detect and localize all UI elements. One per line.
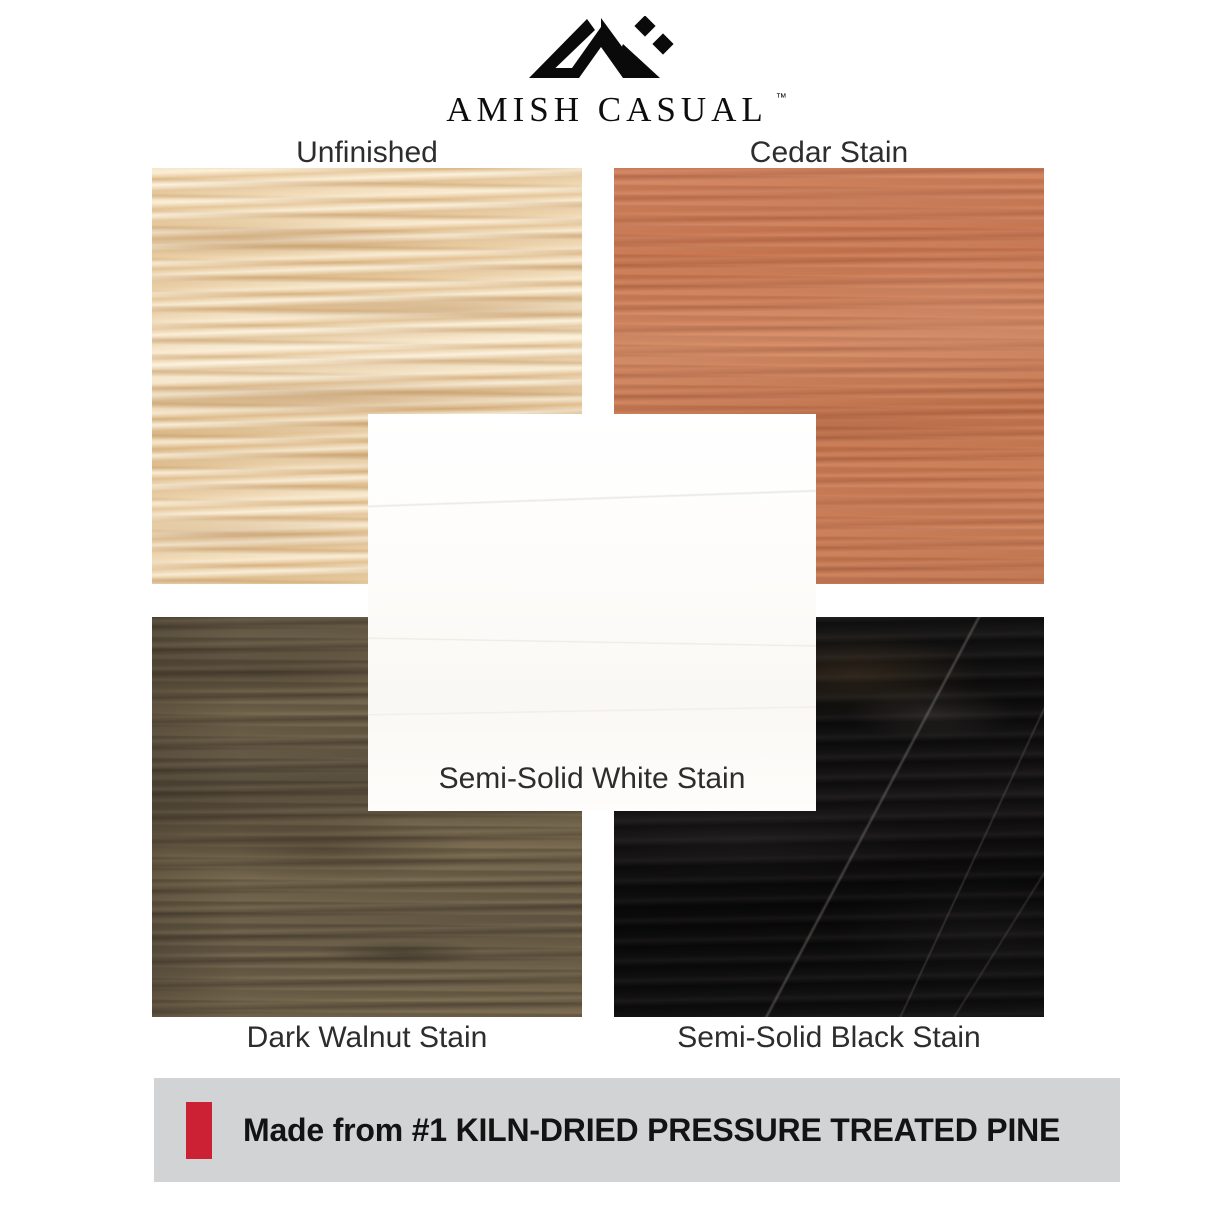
footer-text: Made from #1 KILN-DRIED PRESSURE TREATED… [243, 1112, 1060, 1149]
wood-grain-overlay [368, 414, 816, 811]
swatch-semi-solid-white-stain[interactable] [368, 414, 816, 811]
footer-accent-bar [186, 1102, 212, 1159]
trademark-symbol: ™ [776, 93, 787, 104]
swatch-label-semi-solid-black: Semi-Solid Black Stain [614, 1023, 1044, 1053]
swatch-label-unfinished: Unfinished [152, 138, 582, 168]
swatch-label-dark-walnut: Dark Walnut Stain [152, 1023, 582, 1053]
footer-banner: Made from #1 KILN-DRIED PRESSURE TREATED… [154, 1078, 1120, 1182]
swatch-label-semi-solid-white-stain: Semi-Solid White Stain [368, 764, 816, 794]
swatch-label-cedar: Cedar Stain [614, 138, 1044, 168]
brand-wordmark: AMISH CASUAL ™ [446, 92, 768, 127]
brand-logo: AMISH CASUAL ™ [0, 16, 1214, 127]
brand-wordmark-text: AMISH CASUAL [446, 90, 768, 129]
mountain-chevron-logo-icon [527, 16, 687, 82]
